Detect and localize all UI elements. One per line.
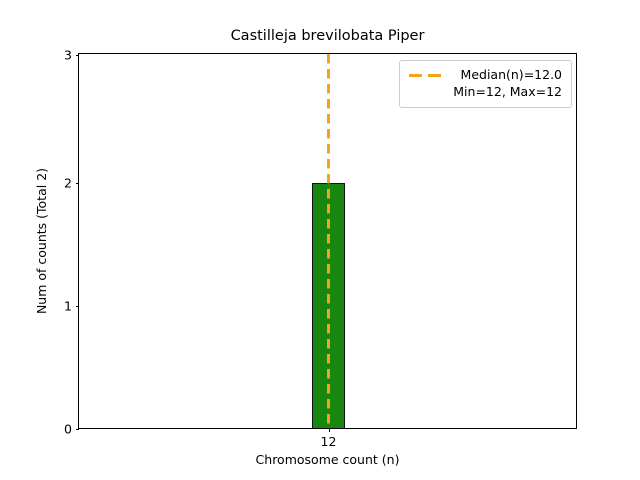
x-axis-label: Chromosome count (n): [78, 452, 577, 467]
ytick-mark-0: [76, 429, 80, 430]
ytick-label-2: 2: [64, 176, 72, 191]
legend-entry-text: Median(n)=12.0 Min=12, Max=12: [451, 67, 562, 100]
y-axis-label: Num of counts (Total 2): [34, 53, 56, 429]
chart-title: Castilleja brevilobata Piper: [78, 27, 577, 45]
legend-line-minmax: Min=12, Max=12: [451, 84, 562, 101]
chart-legend: Median(n)=12.0 Min=12, Max=12: [399, 60, 572, 108]
xtick-label-12: 12: [321, 434, 337, 449]
median-line: [327, 54, 330, 428]
plot-content: [79, 54, 576, 428]
plot-area: 0 1 2 3 12: [78, 53, 577, 429]
ytick-label-1: 1: [64, 299, 72, 314]
legend-dashed-line-icon: [409, 68, 442, 84]
legend-line-median: Median(n)=12.0: [451, 67, 562, 84]
ytick-label-0: 0: [64, 422, 72, 437]
xtick-mark-12: [329, 428, 330, 432]
ytick-label-3: 3: [64, 47, 72, 62]
chart-figure: Castilleja brevilobata Piper 0 1 2 3 12 …: [0, 0, 640, 480]
